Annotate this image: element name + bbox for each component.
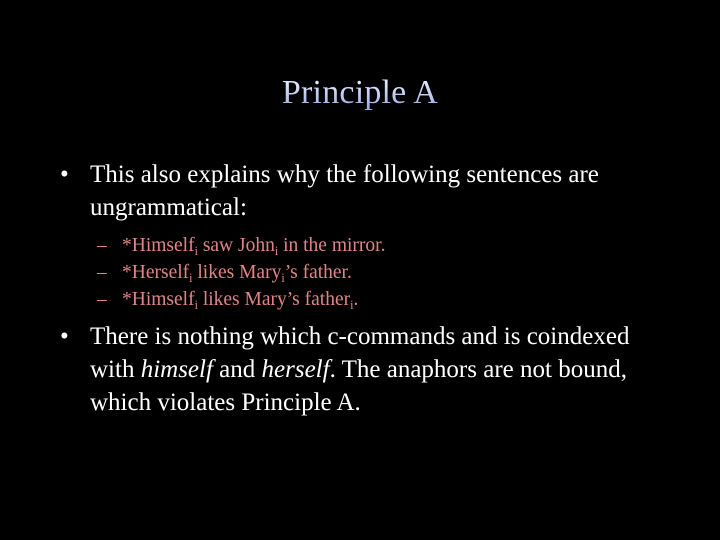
bullet-item-1: • This also explains why the following s… <box>0 158 720 224</box>
dash-marker-icon: – <box>97 259 107 286</box>
sub-bullet-text-1: *Himselfi saw Johni in the mirror. <box>122 235 385 256</box>
bullet-text-1: This also explains why the following sen… <box>90 158 680 224</box>
sub-bullet-seg: *Herself <box>122 262 189 283</box>
emphasis-herself: herself <box>262 356 330 383</box>
sub-bullet-seg: saw John <box>198 235 275 256</box>
page-title: Principle A <box>0 72 720 114</box>
bullet-item-2: • There is nothing which c-commands and … <box>0 320 720 419</box>
sub-bullet-text-2: *Herselfi likes Maryi’s father. <box>122 262 352 283</box>
index-subscript: i <box>195 298 198 312</box>
slide-canvas: Principle A • This also explains why the… <box>0 0 720 540</box>
sub-bullet-seg: likes Mary <box>193 262 282 283</box>
index-subscript: i <box>281 271 284 285</box>
sub-bullet-seg: . <box>353 289 358 310</box>
dash-marker-icon: – <box>97 286 107 313</box>
sub-bullet-item-3: – *Himselfi likes Mary’s fatheri. <box>0 286 720 313</box>
sub-bullet-seg: in the mirror. <box>278 235 385 256</box>
sub-bullet-seg: *Himself <box>122 289 195 310</box>
sub-bullet-item-2: – *Herselfi likes Maryi’s father. <box>0 259 720 286</box>
sub-bullet-item-1: – *Himselfi saw Johni in the mirror. <box>0 232 720 259</box>
sub-bullet-text-3: *Himselfi likes Mary’s fatheri. <box>122 289 358 310</box>
emphasis-himself: himself <box>141 356 213 383</box>
bullet-marker-icon: • <box>60 158 69 191</box>
bullet-marker-icon: • <box>60 320 69 353</box>
sub-bullet-seg: ’s father. <box>285 262 352 283</box>
sub-bullet-list: – *Himselfi saw Johni in the mirror. – *… <box>0 232 720 313</box>
bullet-seg: and <box>213 356 262 383</box>
dash-marker-icon: – <box>97 232 107 259</box>
index-subscript: i <box>189 271 192 285</box>
index-subscript: i <box>195 244 198 258</box>
sub-bullet-seg: likes Mary’s father <box>198 289 350 310</box>
bullet-text-2: There is nothing which c-commands and is… <box>90 320 680 419</box>
slide-body: • This also explains why the following s… <box>0 158 720 419</box>
index-subscript: i <box>350 298 353 312</box>
index-subscript: i <box>275 244 278 258</box>
sub-bullet-seg: *Himself <box>122 235 195 256</box>
